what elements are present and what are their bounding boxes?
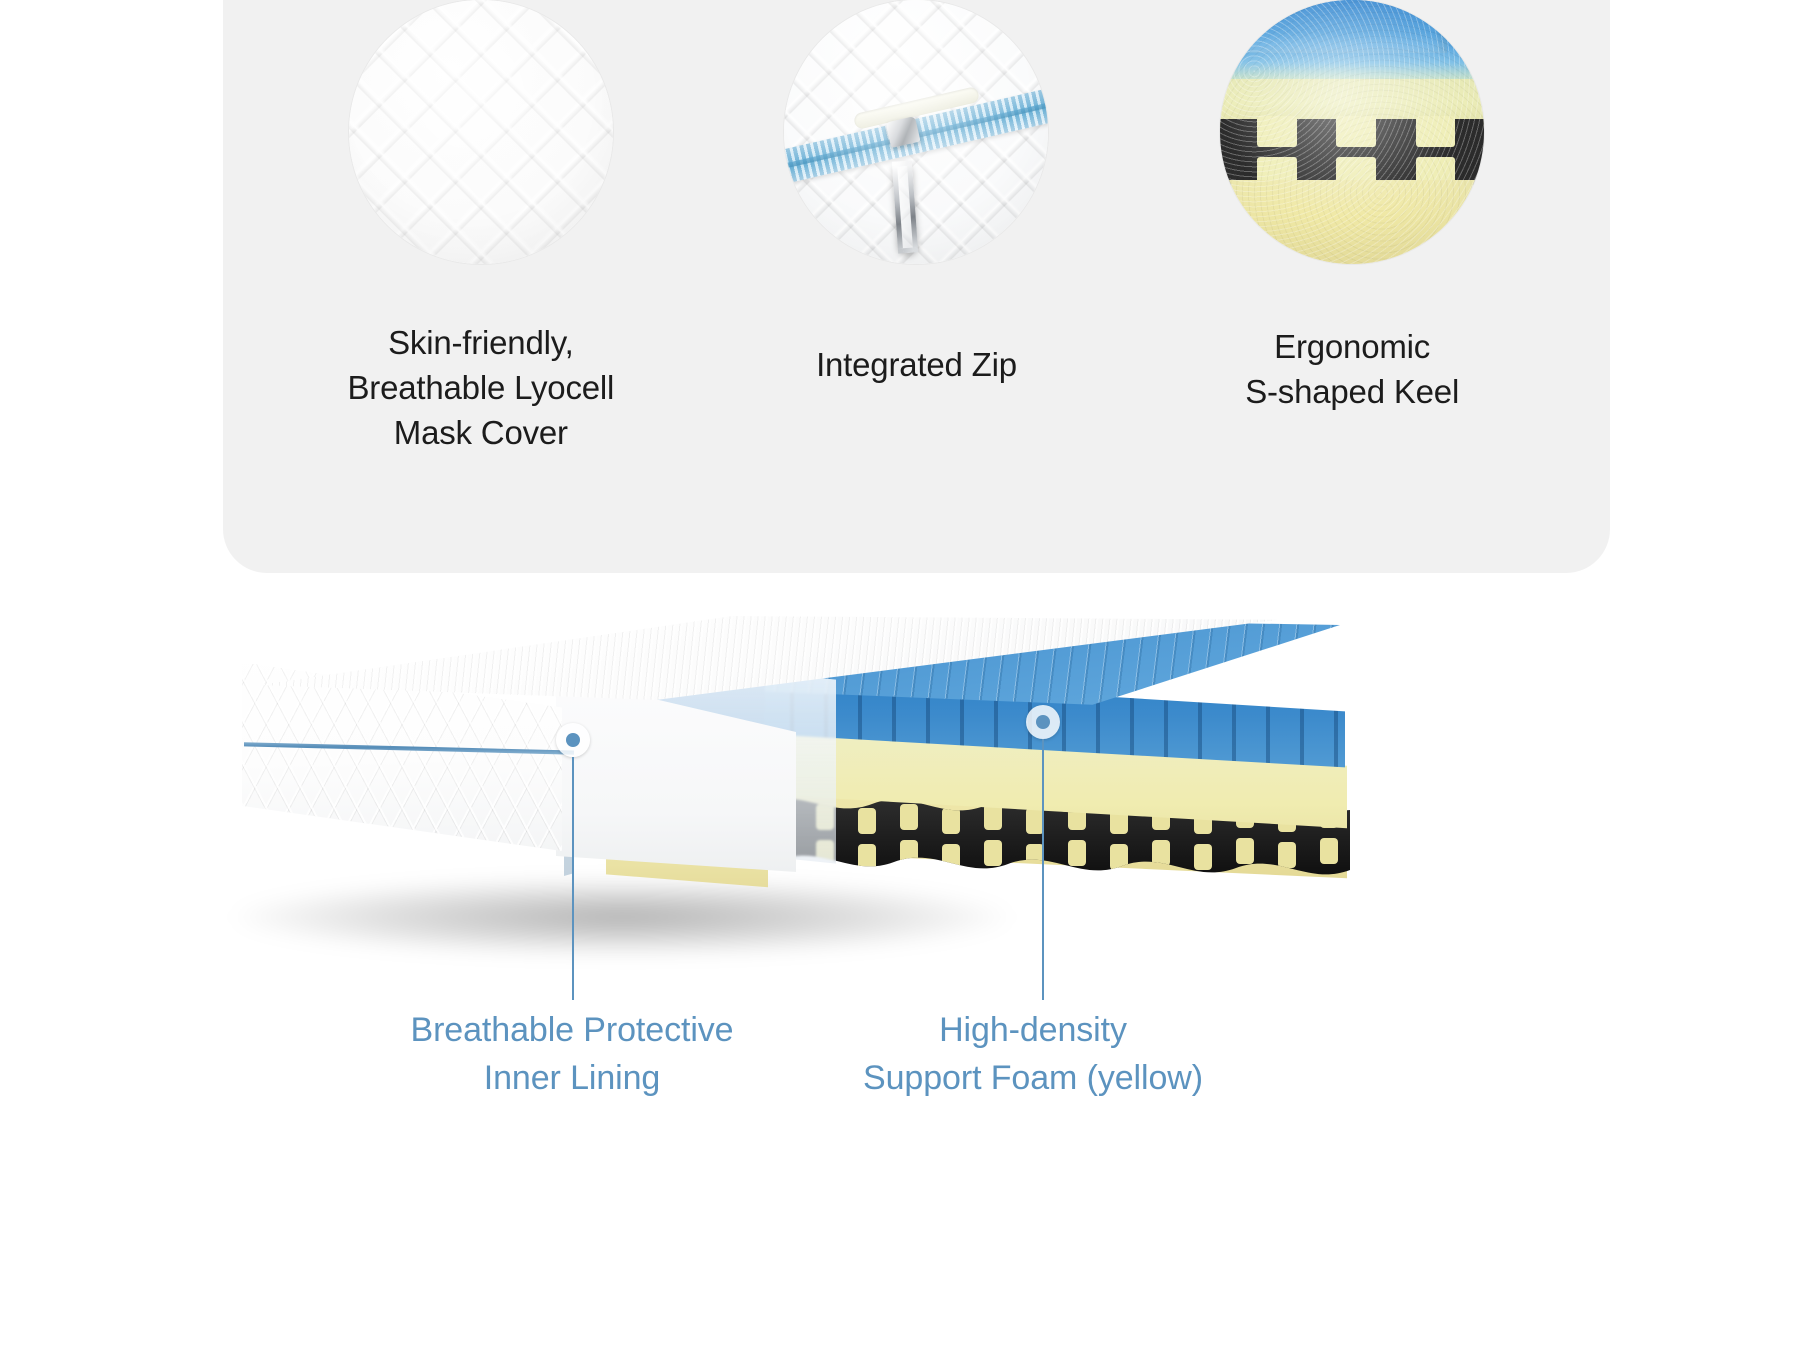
caption-line: S-shaped Keel: [1245, 369, 1459, 414]
feature-lyocell-cover: Skin-friendly, Breathable Lyocell Mask C…: [286, 0, 676, 456]
callout-dot-inner-lining[interactable]: [556, 723, 590, 757]
callout-line: High-density: [863, 1006, 1203, 1054]
callout-leader-inner-lining: [572, 757, 574, 1000]
caption-line: Breathable Lyocell: [347, 365, 614, 410]
callout-line: Support Foam (yellow): [863, 1054, 1203, 1102]
mattress-cutaway-illustration: [0, 560, 1800, 1060]
caption-line: Skin-friendly,: [347, 320, 614, 365]
callout-label-inner-lining: Breathable Protective Inner Lining: [411, 1006, 734, 1103]
caption-line: Mask Cover: [347, 410, 614, 455]
feature-s-shaped-keel: Ergonomic S-shaped Keel: [1157, 0, 1547, 414]
feature-caption: Integrated Zip: [816, 342, 1017, 387]
caption-line: Integrated Zip: [816, 342, 1017, 387]
feature-panel: Skin-friendly, Breathable Lyocell Mask C…: [223, 0, 1610, 573]
callout-label-support-foam: High-density Support Foam (yellow): [863, 1006, 1203, 1103]
callout-leader-support-foam: [1042, 739, 1044, 1000]
feature-caption: Ergonomic S-shaped Keel: [1245, 324, 1459, 414]
keel-cross-section-icon: [1220, 0, 1484, 264]
callout-dot-support-foam[interactable]: [1026, 705, 1060, 739]
infographic-root: Skin-friendly, Breathable Lyocell Mask C…: [0, 0, 1800, 1350]
caption-line: Ergonomic: [1245, 324, 1459, 369]
quilted-fabric-icon: [349, 0, 613, 264]
feature-integrated-zip: Integrated Zip: [721, 0, 1111, 387]
callout-line: Breathable Protective: [411, 1006, 734, 1054]
feature-caption: Skin-friendly, Breathable Lyocell Mask C…: [347, 320, 614, 456]
zipper-icon: [784, 0, 1048, 264]
feature-grid: Skin-friendly, Breathable Lyocell Mask C…: [223, 0, 1610, 520]
callout-line: Inner Lining: [411, 1054, 734, 1102]
